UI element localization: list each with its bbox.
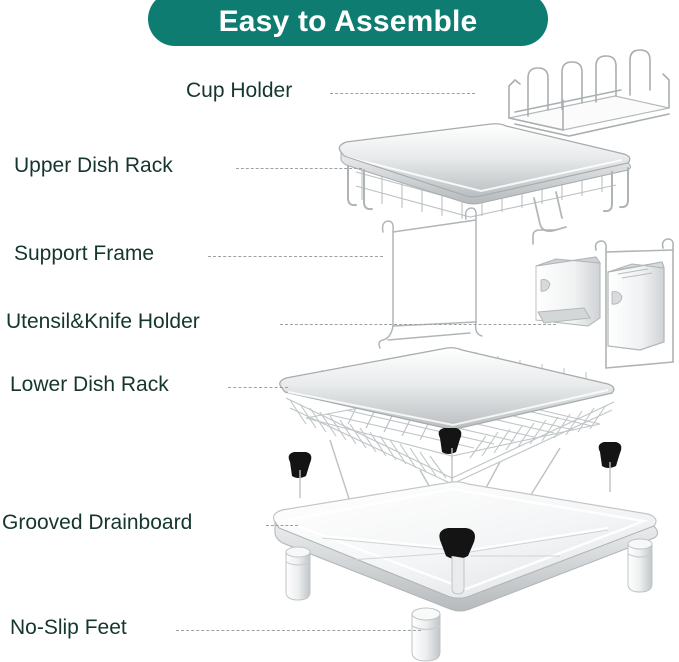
callout-label-no-slip-feet: No-Slip Feet xyxy=(10,617,127,638)
utensil-cup xyxy=(536,257,600,326)
part-no-slip-feet xyxy=(286,539,652,661)
foot-left xyxy=(286,547,310,600)
callout-label-upper-dish-rack: Upper Dish Rack xyxy=(14,155,173,176)
banner-title: Easy to Assemble xyxy=(219,0,478,49)
part-upper-dish-rack xyxy=(339,124,630,231)
leader-line-grooved-drainboard xyxy=(266,525,298,526)
header-banner: Easy to Assemble xyxy=(148,0,548,46)
part-grooved-drainboard xyxy=(274,482,658,611)
part-lower-dish-rack xyxy=(280,348,622,512)
callout-label-cup-holder: Cup Holder xyxy=(186,80,292,101)
callout-label-grooved-drainboard: Grooved Drainboard xyxy=(2,512,192,533)
part-utensil-knife-holder xyxy=(533,230,673,368)
foot-center xyxy=(412,608,440,661)
leader-line-lower-dish-rack xyxy=(228,387,288,388)
infographic-canvas: Easy to Assemble xyxy=(0,0,679,662)
callout-label-support-frame: Support Frame xyxy=(14,243,154,264)
foot-right xyxy=(628,539,652,592)
leader-line-no-slip-feet xyxy=(176,630,421,631)
leader-line-upper-dish-rack xyxy=(236,168,362,169)
callout-label-lower-dish-rack: Lower Dish Rack xyxy=(10,374,169,395)
knife-holder xyxy=(608,262,664,350)
leader-line-cup-holder xyxy=(330,93,475,94)
part-support-frame xyxy=(379,208,482,348)
rack-rubber-feet xyxy=(289,428,622,478)
part-cup-holder xyxy=(509,50,669,136)
callout-label-utensil-holder: Utensil&Knife Holder xyxy=(6,311,200,332)
leader-line-utensil-holder xyxy=(280,324,556,325)
leader-line-support-frame xyxy=(208,256,383,257)
